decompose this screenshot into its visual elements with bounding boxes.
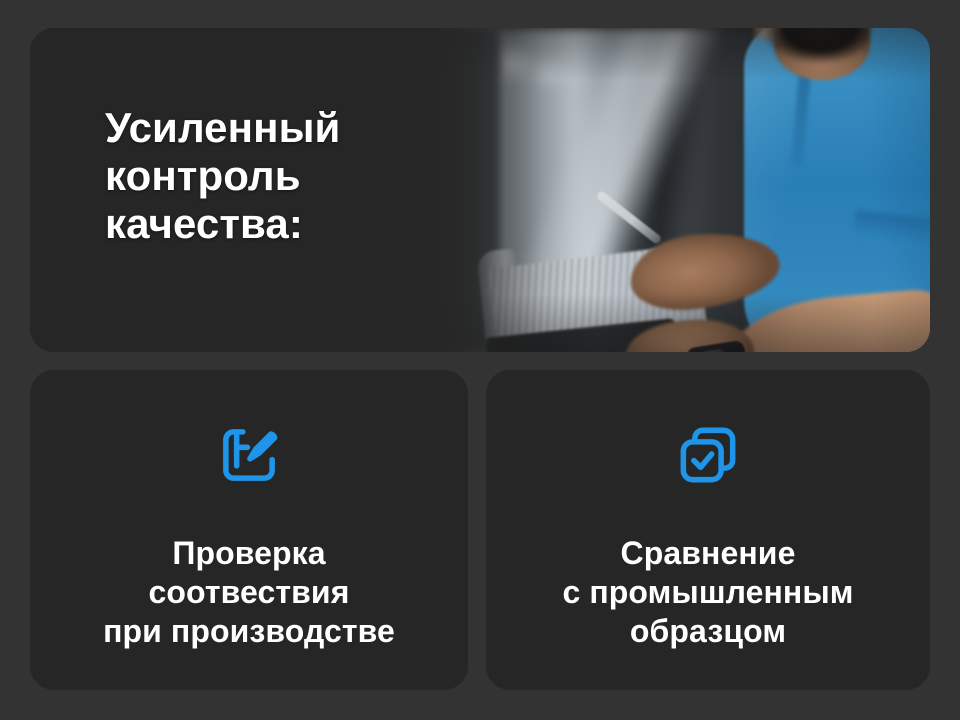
hero-heading: Усиленный контроль качества: — [105, 104, 435, 248]
feature-label-comparison: Сравнение с промышленным образцом — [486, 534, 930, 651]
feature-card-comparison[interactable]: Сравнение с промышленным образцом — [486, 370, 930, 690]
duplicate-check-icon — [671, 418, 745, 492]
hero-card: Усиленный контроль качества: — [30, 28, 930, 352]
feature-label-inspection: Проверка соотвествия при производстве — [30, 534, 468, 651]
document-edit-icon — [212, 418, 286, 492]
slide-canvas: Усиленный контроль качества: Проверка со… — [0, 0, 960, 720]
feature-card-inspection[interactable]: Проверка соотвествия при производстве — [30, 370, 468, 690]
